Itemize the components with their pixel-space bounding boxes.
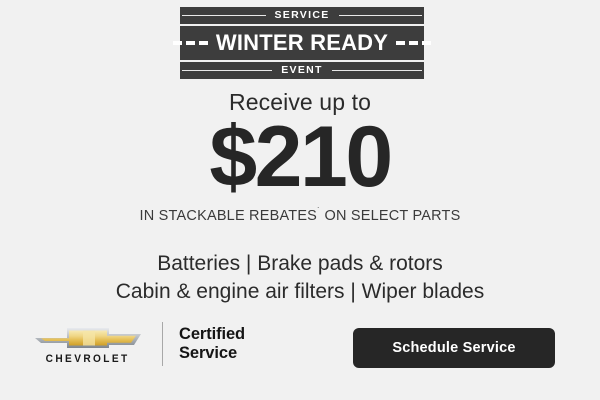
brand-divider	[162, 322, 163, 366]
certified-line-2: Service	[179, 344, 245, 363]
dashes-right-icon	[396, 41, 431, 45]
dashes-left-icon	[173, 41, 208, 45]
banner-title: WINTER READY	[216, 32, 388, 54]
product-line-1: Batteries | Brake pads & rotors	[0, 250, 600, 278]
rebate-text-tail: ON SELECT PARTS	[320, 208, 460, 224]
banner-service-label: SERVICE	[268, 10, 337, 21]
banner-bottom-band: EVENT	[180, 60, 424, 79]
offer-rebate-text: IN STACKABLE REBATES˙ ON SELECT PARTS	[0, 208, 600, 224]
banner-top-band: SERVICE	[180, 7, 424, 26]
offer-amount: $210	[0, 117, 600, 199]
chevrolet-bowtie-icon	[34, 323, 142, 351]
banner-title-band: WINTER READY	[180, 26, 424, 60]
banner-rule-left	[182, 15, 266, 16]
product-list: Batteries | Brake pads & rotors Cabin & …	[0, 250, 600, 306]
chevrolet-wordmark: CHEVROLET	[46, 354, 130, 365]
certified-service-text: Certified Service	[179, 325, 245, 364]
offer-block: Receive up to $210 IN STACKABLE REBATES˙…	[0, 90, 600, 224]
schedule-service-button[interactable]: Schedule Service	[353, 328, 555, 368]
chevrolet-certified-service-logo: CHEVROLET Certified Service	[32, 322, 245, 366]
banner-rule-right	[339, 15, 423, 16]
advertisement-root: SERVICE WINTER READY EVENT Receive up to…	[0, 0, 600, 400]
banner-event-label: EVENT	[274, 65, 330, 76]
rebate-text-main: IN STACKABLE REBATES	[140, 208, 318, 224]
product-line-2: Cabin & engine air filters | Wiper blade…	[0, 278, 600, 306]
banner-rule-left-2	[182, 70, 272, 71]
footer: CHEVROLET Certified Service Schedule Ser…	[0, 318, 600, 380]
winter-ready-banner: SERVICE WINTER READY EVENT	[180, 7, 424, 79]
banner-rule-right-2	[332, 70, 422, 71]
certified-line-1: Certified	[179, 325, 245, 344]
bowtie-wrap: CHEVROLET	[32, 323, 144, 365]
